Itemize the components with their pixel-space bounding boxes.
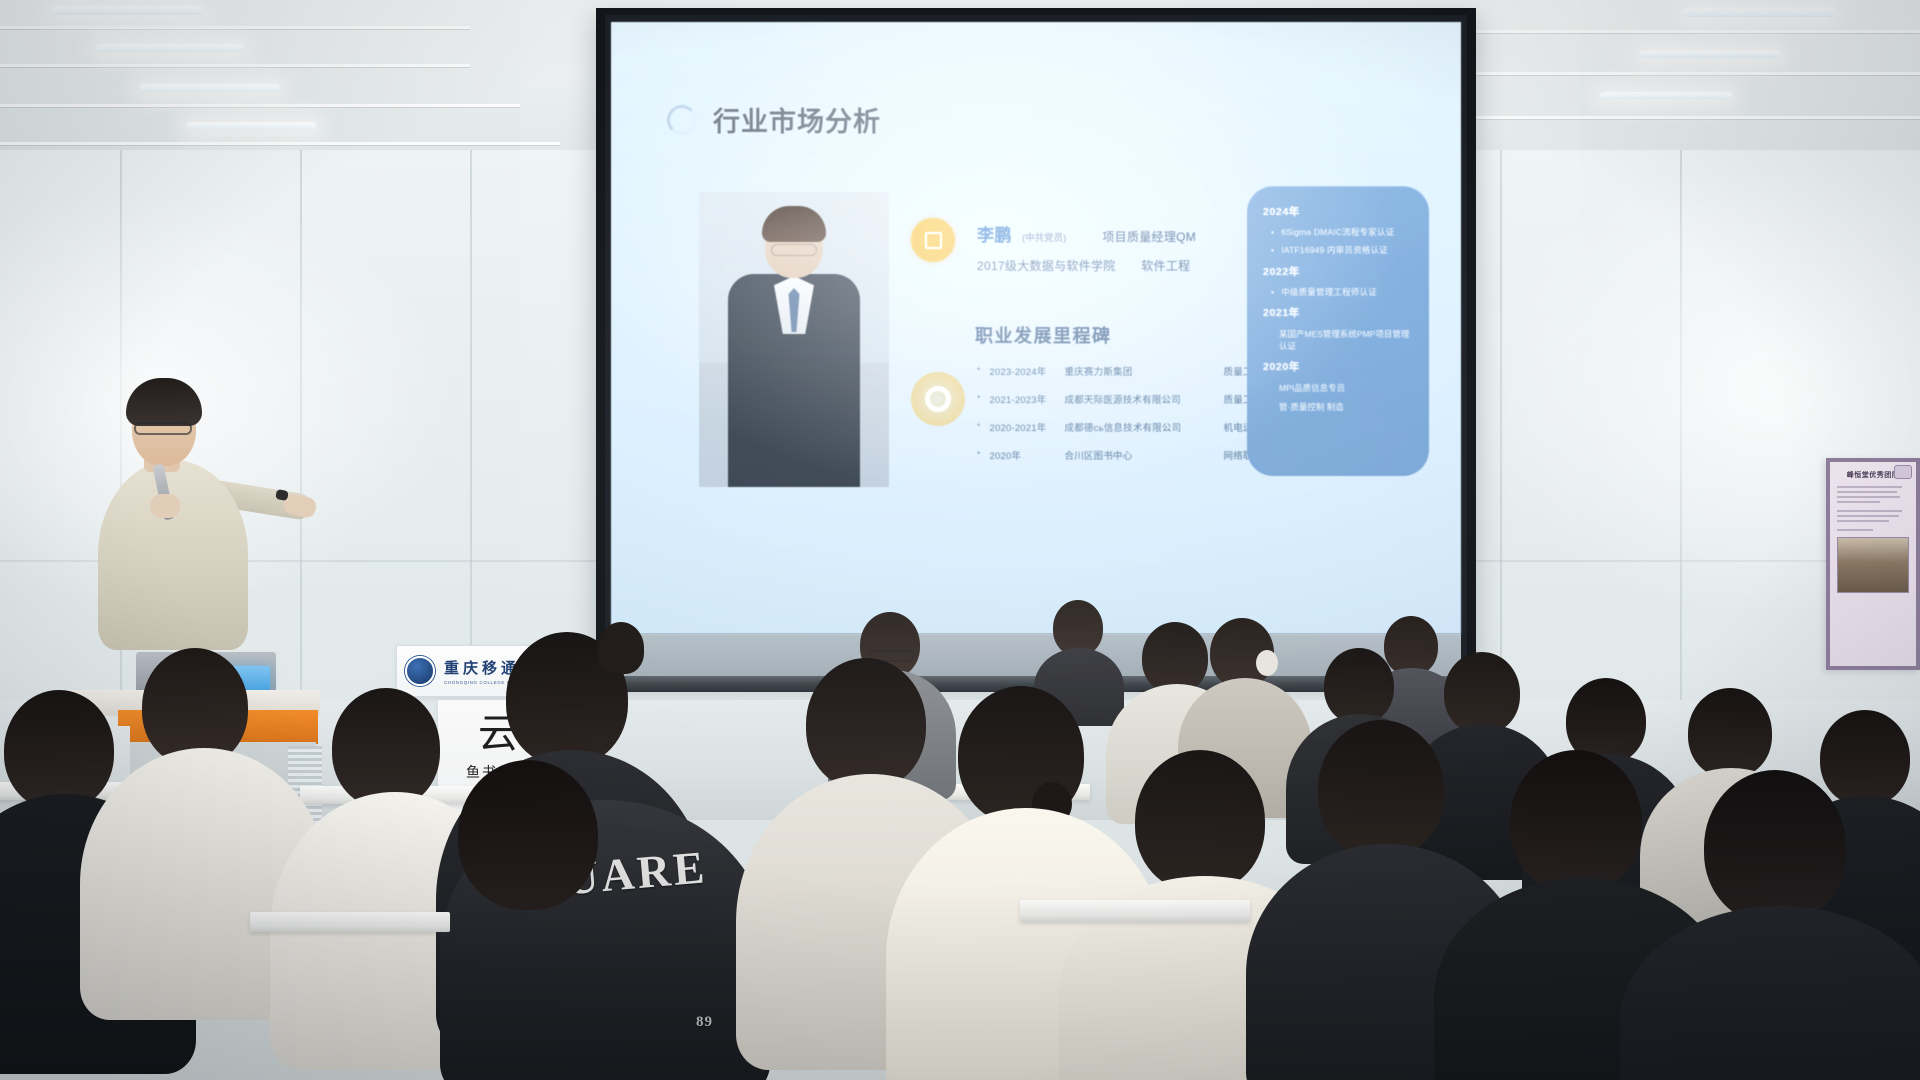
cert-year: 2022年	[1263, 264, 1415, 279]
person-class: 2017级大数据与软件学院	[977, 259, 1116, 273]
cert-item: • IATF16949 内审员资格认证	[1271, 245, 1415, 256]
academy-glyph: 云	[478, 714, 518, 754]
milestone-heading: 职业发展里程碑	[975, 322, 1112, 348]
ceiling-light	[186, 122, 316, 129]
jacket-number: 89	[696, 1014, 713, 1031]
ceiling-light	[1640, 50, 1780, 58]
ceiling-light	[1600, 92, 1732, 99]
academy-name-cn: 鱼书书院	[466, 762, 530, 782]
lectern-accent-band	[118, 710, 318, 744]
cert-year: 2024年	[1263, 204, 1415, 219]
cert-year: 2021年	[1263, 305, 1415, 320]
bullet-icon: •	[1271, 227, 1274, 238]
cert-item: • 中级质量管理工程师认证	[1271, 287, 1415, 298]
person-party-status: (中共党员)	[1022, 230, 1066, 244]
portrait-photo	[699, 192, 889, 487]
speaker	[88, 368, 318, 668]
ring-icon	[667, 105, 697, 135]
academy-name-en: YUSHU ACADEMY	[478, 793, 518, 798]
bullet-icon: •	[1271, 287, 1274, 298]
person-identity-block: 李鹏 (中共党员) 项目质量经理QM 2017级大数据与软件学院 软件工程	[911, 218, 1196, 274]
ceiling-light	[52, 6, 202, 15]
glasses-icon	[134, 422, 192, 435]
person-major: 软件工程	[1141, 259, 1190, 273]
slide-title-row: 行业市场分析	[667, 100, 881, 139]
screen-roller-bar	[596, 676, 1476, 692]
ceiling-light	[140, 84, 280, 92]
lectern	[40, 650, 330, 950]
university-name-en: CHONGQING COLLEGE OF MOBILE COMMUNICATIO…	[444, 680, 585, 685]
university-seal-icon	[405, 656, 435, 686]
bullet-icon: •	[977, 448, 981, 462]
university-banner: 重庆移通学院 CHONGQING COLLEGE OF MOBILE COMMU…	[396, 645, 611, 697]
speaker-hair	[126, 378, 202, 426]
person-role: 项目质量经理QM	[1102, 228, 1196, 245]
speaker-mic-hand	[150, 494, 180, 518]
presentation-slide: 行业市场分析 李鹏 (中共党员) 项目质量经理QM 2017级	[611, 22, 1461, 634]
academy-plate: 云 鱼书书院 YUSHU ACADEMY	[438, 700, 558, 840]
desk	[1020, 900, 1250, 922]
bullet-icon: •	[1271, 245, 1274, 256]
bullet-icon: •	[977, 364, 981, 378]
cert-item: 管·质量控制 制造	[1279, 401, 1415, 413]
gear-icon	[911, 372, 965, 426]
wall-poster: 峰恒堂优秀团队	[1826, 458, 1920, 670]
glasses-icon	[771, 244, 817, 256]
cert-year: 2020年	[1263, 359, 1415, 374]
slide-title: 行业市场分析	[713, 100, 881, 139]
ceiling-light	[1684, 8, 1834, 17]
bullet-icon: •	[977, 392, 981, 406]
ceiling-light	[96, 44, 244, 52]
cert-item: MPI品质信息专员	[1279, 382, 1415, 394]
cable	[84, 856, 93, 926]
university-name-cn: 重庆移通学院	[444, 657, 585, 678]
person-name: 李鹏	[977, 221, 1012, 246]
screen-lower-band	[611, 634, 1461, 676]
badge-icon	[911, 218, 955, 262]
poster-badge	[1894, 465, 1912, 479]
speaker-torso	[98, 460, 248, 650]
speaker-vent	[44, 746, 78, 824]
speaker-vent	[288, 746, 322, 824]
lecture-hall-scene: 行业市场分析 李鹏 (中共党员) 项目质量经理QM 2017级	[0, 0, 1920, 1080]
cert-item: • 6Sigma DMAIC流程专家认证	[1271, 227, 1415, 238]
poster-image	[1837, 537, 1909, 593]
bullet-icon: •	[977, 420, 981, 434]
certification-panel: 2024年 • 6Sigma DMAIC流程专家认证 • IATF16949 内…	[1247, 186, 1429, 476]
cert-item: 某国产MES管理系统PMP项目管理认证	[1279, 328, 1415, 352]
